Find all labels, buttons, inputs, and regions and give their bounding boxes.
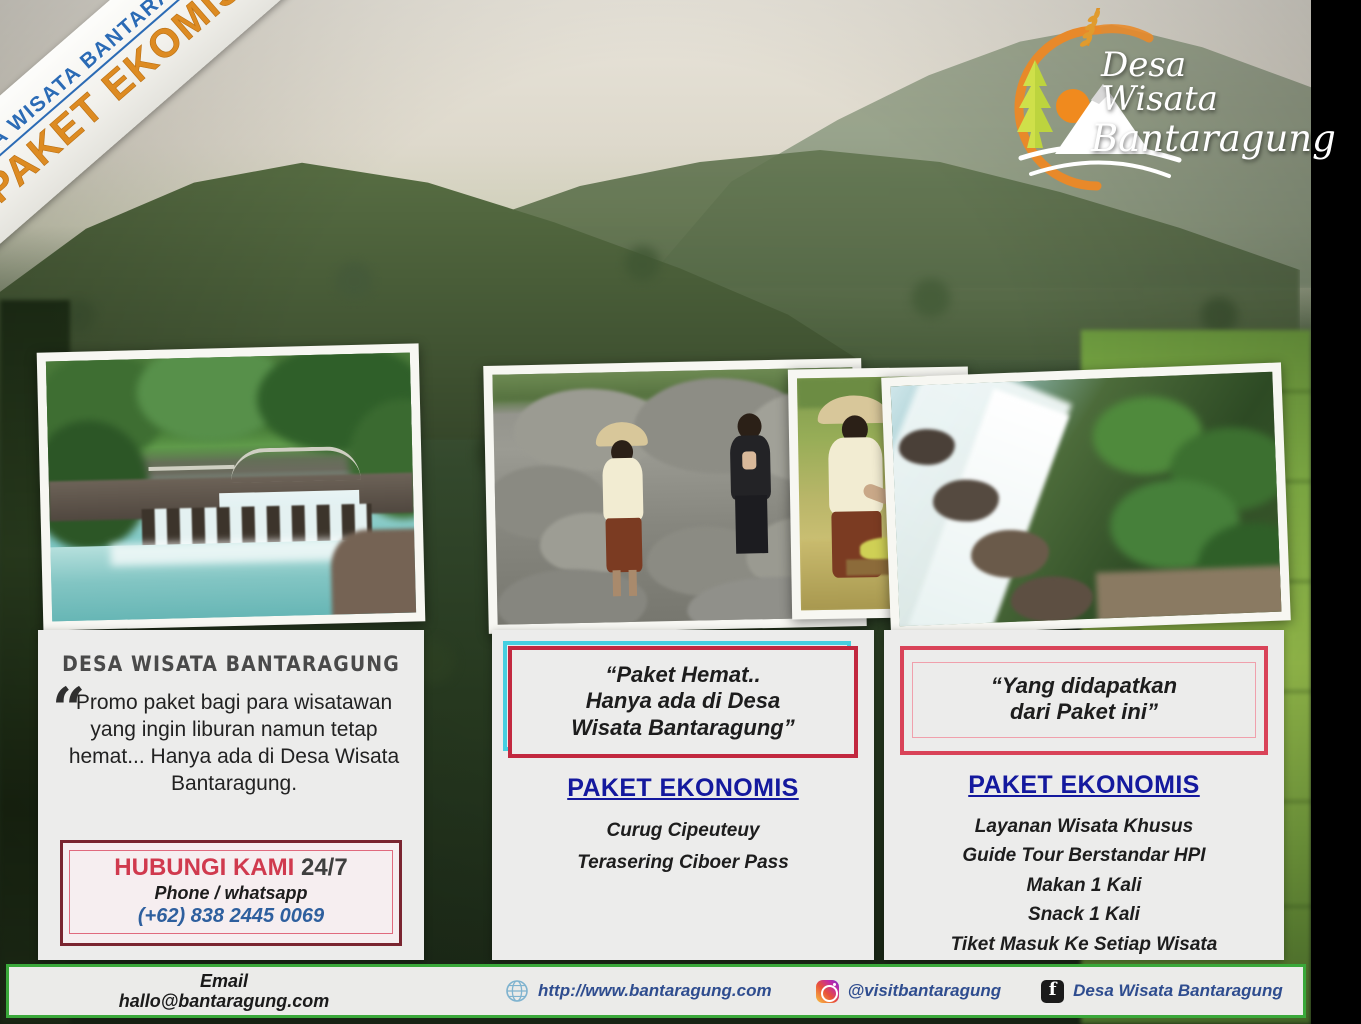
footer-facebook-item[interactable]: f Desa Wisata Bantaragung (1041, 980, 1283, 1003)
panel-package-tagline: “Paket Hemat.. Hanya ada di Desa Wisata … (492, 630, 874, 960)
right-quote-line-2: dari Paket ini” (919, 699, 1249, 725)
footer-website-url[interactable]: http://www.bantaragung.com (538, 981, 772, 1001)
list-item: Guide Tour Berstandar HPI (894, 841, 1274, 870)
list-item: Snack 1 Kali (894, 900, 1274, 929)
mid-quote-card: “Paket Hemat.. Hanya ada di Desa Wisata … (508, 646, 858, 758)
list-item: Terasering Ciboer Pass (502, 847, 864, 879)
footer-email-value[interactable]: hallo@bantaragung.com (9, 991, 439, 1011)
footer-email-label: Email (9, 971, 439, 991)
facebook-icon: f (1041, 980, 1064, 1003)
brand-logo: Desa Wisata Bantaragung (979, 8, 1309, 208)
photo-jungle-waterfall (881, 362, 1291, 635)
logo-wordmark: Desa Wisata Bantaragung (1091, 48, 1307, 157)
mid-quote-line-2: Hanya ada di Desa (520, 688, 846, 714)
right-quote-line-1: “Yang didapatkan (919, 673, 1249, 699)
mid-quote-line-3: Wisata Bantaragung” (520, 715, 846, 741)
photo-curug-cipeuteuy-weir (37, 343, 426, 630)
right-quote-card: “Yang didapatkan dari Paket ini” (900, 646, 1268, 755)
list-item: Makan 1 Kali (894, 871, 1274, 900)
footer-instagram-handle[interactable]: @visitbantaragung (848, 981, 1002, 1001)
contact-subtitle: Phone / whatsapp (72, 883, 390, 904)
instagram-icon (816, 980, 839, 1003)
contact-phone-number[interactable]: (+62) 838 2445 0069 (72, 905, 390, 928)
promo-quote-block: “ Promo paket bagi para wisatawan yang i… (52, 686, 410, 798)
contact-title-red: HUBUNGI KAMI (114, 854, 294, 881)
globe-icon (505, 979, 529, 1003)
footer-website-item[interactable]: http://www.bantaragung.com (505, 979, 772, 1003)
promo-poster: DESA WISATA BANTARAGUNG PAKET EKOMIS (0, 0, 1361, 1024)
footer-instagram-item[interactable]: @visitbantaragung (816, 980, 1002, 1003)
promo-quote-text: Promo paket bagi para wisatawan yang ing… (52, 686, 410, 798)
quote-mark-icon: “ (52, 692, 85, 727)
footer-facebook-page[interactable]: Desa Wisata Bantaragung (1073, 981, 1283, 1001)
list-item: Tiket Masuk Ke Setiap Wisata (894, 930, 1274, 959)
contact-footer: Email hallo@bantaragung.com http://www.b… (6, 964, 1306, 1018)
footer-email-block[interactable]: Email hallo@bantaragung.com (9, 971, 439, 1011)
panel-about: DESA WISATA BANTARAGUNG “ Promo paket ba… (38, 630, 424, 960)
mid-package-title: PAKET EKONOMIS (492, 774, 874, 803)
contact-title-hours: 24/7 (301, 854, 348, 881)
list-item: Curug Cipeuteuy (502, 815, 864, 847)
logo-line-1: Desa Wisata (1091, 48, 1307, 116)
list-item: Layanan Wisata Khusus (894, 812, 1274, 841)
mid-package-list: Curug Cipeuteuy Terasering Ciboer Pass (492, 815, 874, 880)
mid-quote-inner-border: “Paket Hemat.. Hanya ada di Desa Wisata … (508, 646, 858, 758)
right-package-list: Layanan Wisata Khusus Guide Tour Berstan… (884, 812, 1284, 959)
mid-quote-line-1: “Paket Hemat.. (520, 662, 846, 688)
logo-line-2: Bantaragung (1091, 120, 1307, 157)
right-quote-border: “Yang didapatkan dari Paket ini” (900, 646, 1268, 755)
contact-box[interactable]: HUBUNGI KAMI 24/7 Phone / whatsapp (+62)… (60, 840, 402, 946)
panel-left-heading: DESA WISATA BANTARAGUNG (38, 652, 424, 676)
panel-package-inclusions: “Yang didapatkan dari Paket ini” PAKET E… (884, 630, 1284, 960)
contact-title: HUBUNGI KAMI 24/7 (72, 855, 390, 881)
right-package-title: PAKET EKONOMIS (884, 771, 1284, 800)
